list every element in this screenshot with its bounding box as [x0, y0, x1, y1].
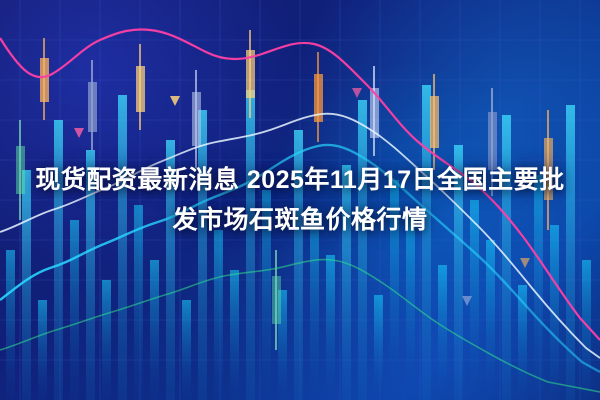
- banner-image: 现货配资最新消息 2025年11月17日全国主要批发市场石斑鱼价格行情: [0, 0, 600, 400]
- headline-text: 现货配资最新消息 2025年11月17日全国主要批发市场石斑鱼价格行情: [24, 160, 576, 240]
- headline-container: 现货配资最新消息 2025年11月17日全国主要批发市场石斑鱼价格行情: [0, 0, 600, 400]
